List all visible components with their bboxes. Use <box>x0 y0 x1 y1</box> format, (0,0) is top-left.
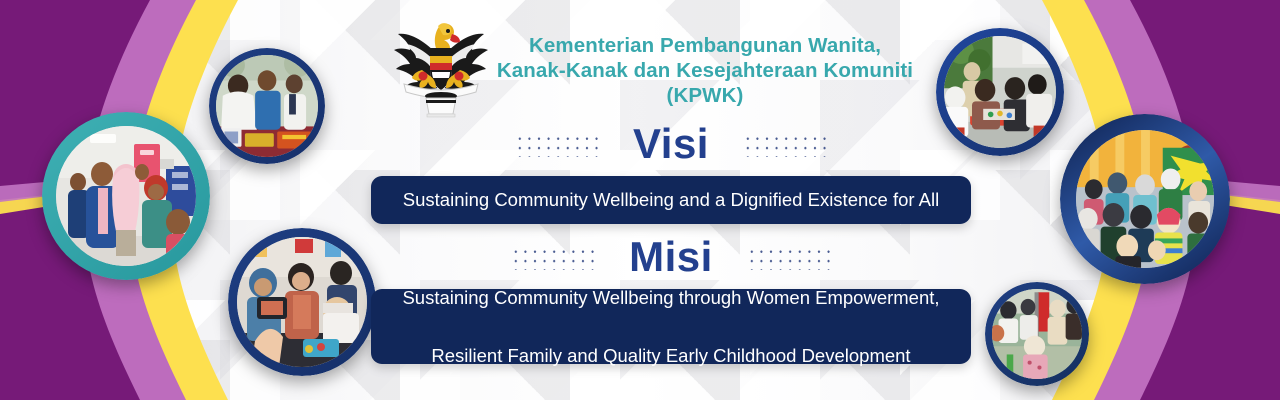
visi-heading: Visi <box>633 121 709 167</box>
ministry-title-line-3: (KPWK) <box>470 83 940 108</box>
visi-heading-row: Visi <box>370 121 972 167</box>
dot-grid-right-icon <box>747 244 831 270</box>
visi-statement-box: Sustaining Community Wellbeing and a Dig… <box>371 176 971 224</box>
photo-community-visit <box>42 112 210 280</box>
photo-inner-outdoor-gathering <box>992 289 1082 379</box>
photo-outdoor-gathering <box>985 282 1089 386</box>
kpwk-vision-mission-banner: Kementerian Pembangunan Wanita, Kanak-Ka… <box>0 0 1280 400</box>
photo-inner-group-family-day <box>1076 130 1214 268</box>
ministry-title-line-1: Kementerian Pembangunan Wanita, <box>470 33 940 58</box>
photo-inner-craft-workshop <box>237 237 367 367</box>
dot-grid-left-icon <box>511 244 595 270</box>
photo-market-booth <box>209 48 325 164</box>
misi-heading-row: Misi <box>370 234 972 280</box>
visi-statement-text: Sustaining Community Wellbeing and a Dig… <box>389 188 953 212</box>
photo-inner-community-visit <box>56 126 196 266</box>
misi-statement-line-2: Resilient Family and Quality Early Child… <box>388 341 953 370</box>
misi-statement-text: Sustaining Community Wellbeing through W… <box>374 283 967 370</box>
photo-craft-workshop <box>228 228 376 376</box>
misi-heading: Misi <box>629 234 713 280</box>
photo-inner-market-booth <box>216 55 318 157</box>
ministry-title: Kementerian Pembangunan Wanita, Kanak-Ka… <box>470 33 940 108</box>
ministry-title-line-2: Kanak-Kanak dan Kesejahteraan Komuniti <box>470 58 940 83</box>
dot-grid-left-icon <box>515 131 599 157</box>
misi-statement-line-1: Sustaining Community Wellbeing through W… <box>388 283 953 312</box>
dot-grid-right-icon <box>743 131 827 157</box>
misi-statement-box: Sustaining Community Wellbeing through W… <box>371 289 971 364</box>
photo-group-family-day <box>1060 114 1230 284</box>
